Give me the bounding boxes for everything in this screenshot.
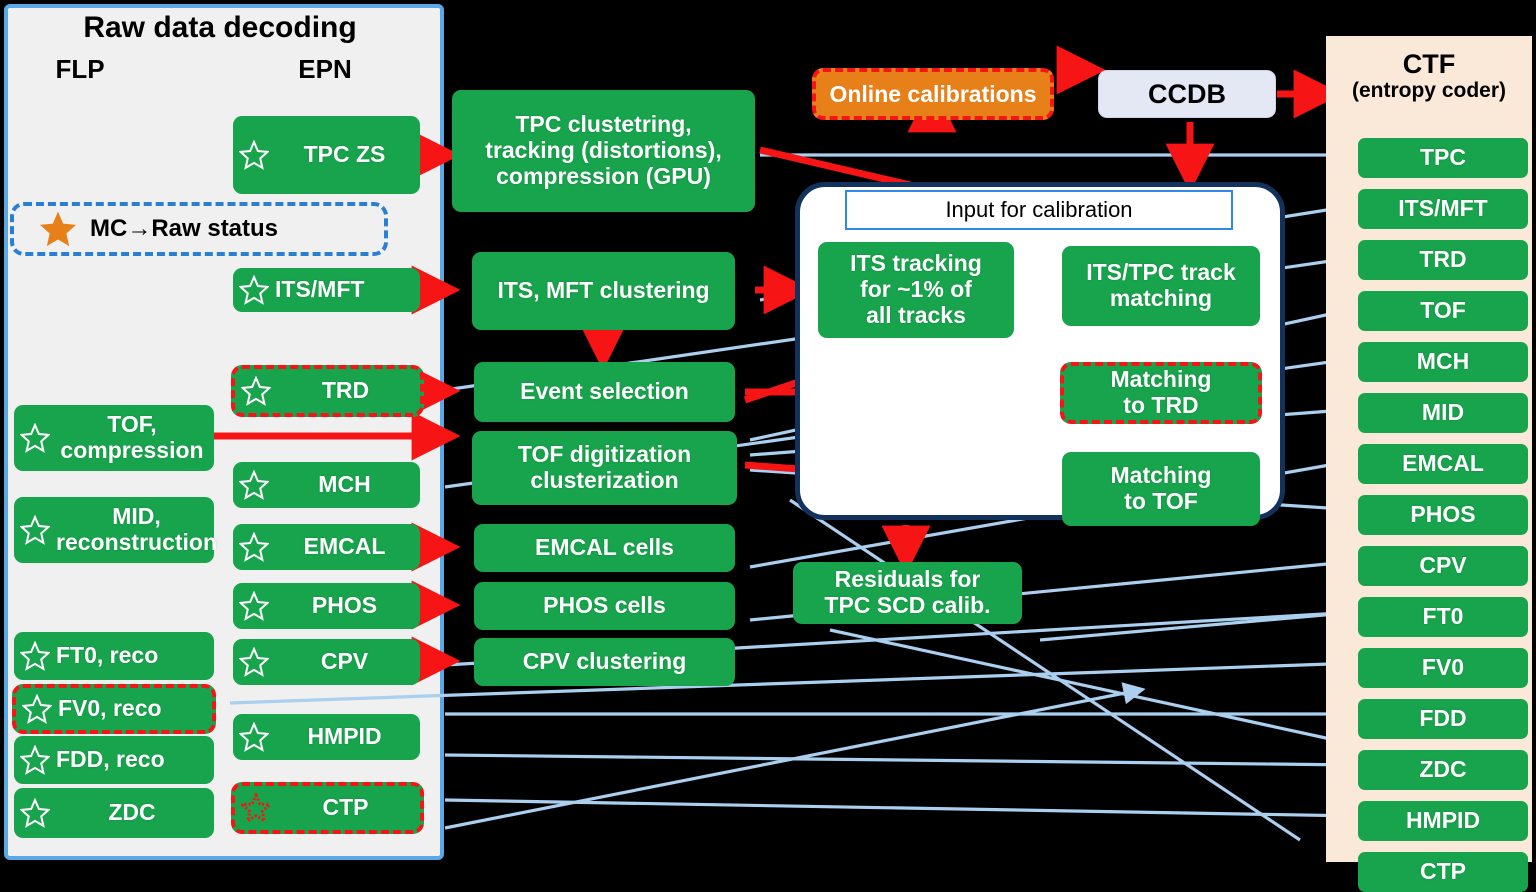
epn-node-label: TRD (277, 378, 414, 404)
ctf-node-trd[interactable]: TRD (1358, 240, 1528, 280)
outline-star-icon (20, 515, 50, 545)
ctf-node-emcal[interactable]: EMCAL (1358, 444, 1528, 484)
flp-node-zdc[interactable]: ZDC (14, 788, 214, 838)
flp-node-label: FDD, reco (56, 747, 165, 773)
epn-node-mch[interactable]: MCH (233, 462, 420, 508)
outline-star-icon (239, 532, 269, 562)
ccdb-box[interactable]: CCDB (1098, 70, 1276, 118)
ctf-node-hmpid[interactable]: HMPID (1358, 801, 1528, 841)
ctf-node-mch[interactable]: MCH (1358, 342, 1528, 382)
outline-star-icon (239, 647, 269, 677)
dotted-red-star-icon (241, 793, 271, 823)
reco-line-2: tracking (distortions), (485, 138, 721, 164)
reco-node-phos-cells[interactable]: PHOS cells (474, 582, 735, 630)
input-for-calibration-header: Input for calibration (845, 190, 1233, 230)
calib-node-matching-tof[interactable]: Matching to TOF (1062, 452, 1260, 526)
legend-mc-raw-status: MC→Raw status (10, 202, 388, 256)
epn-node-hmpid[interactable]: HMPID (233, 714, 420, 760)
epn-node-label: MCH (275, 472, 414, 498)
epn-node-label: EMCAL (275, 534, 414, 560)
outline-star-icon (239, 275, 269, 305)
residuals-node[interactable]: Residuals for TPC SCD calib. (793, 562, 1022, 624)
ctf-node-phos[interactable]: PHOS (1358, 495, 1528, 535)
flp-node-label: ZDC (56, 800, 208, 826)
calib-node-matching-trd[interactable]: Matching to TRD (1060, 362, 1262, 424)
outline-star-icon (239, 470, 269, 500)
epn-node-trd[interactable]: TRD (231, 365, 424, 417)
flp-node-label: TOF, compression (56, 412, 208, 464)
outline-star-icon (20, 798, 50, 828)
ctf-node-cpv[interactable]: CPV (1358, 546, 1528, 586)
filled-star-icon (36, 209, 80, 249)
epn-column-label: EPN (255, 56, 395, 83)
reco-node-tpc[interactable]: TPC clustetring, tracking (distortions),… (452, 90, 755, 212)
ctf-node-mid[interactable]: MID (1358, 393, 1528, 433)
flp-node-ft0[interactable]: FT0, reco (14, 632, 214, 680)
online-calibrations-box[interactable]: Online calibrations (812, 68, 1054, 120)
flp-node-fv0[interactable]: FV0, reco (12, 684, 216, 734)
ctf-node-tof[interactable]: TOF (1358, 291, 1528, 331)
ctf-node-fv0[interactable]: FV0 (1358, 648, 1528, 688)
epn-node-label: CPV (275, 649, 414, 675)
epn-node-phos[interactable]: PHOS (233, 583, 420, 629)
reco-node-its-mft-clustering[interactable]: ITS, MFT clustering (472, 252, 735, 330)
reco-node-event-selection[interactable]: Event selection (474, 362, 735, 422)
flp-node-label: MID, reconstruction (56, 504, 217, 556)
reco-node-cpv-clustering[interactable]: CPV clustering (474, 638, 735, 686)
epn-node-its-mft[interactable]: ITS/MFT (233, 268, 420, 312)
epn-node-tpc-zs[interactable]: TPC ZS (233, 116, 420, 194)
flp-node-mid[interactable]: MID, reconstruction (14, 497, 214, 563)
outline-star-icon (239, 591, 269, 621)
ctf-node-its-mft[interactable]: ITS/MFT (1358, 189, 1528, 229)
diagram-canvas: Raw data decoding FLP EPN MC→Raw status (0, 0, 1536, 864)
ctf-node-ctp[interactable]: CTP (1358, 852, 1528, 892)
epn-node-cpv[interactable]: CPV (233, 639, 420, 685)
reco-line-1: TPC clustetring, (515, 112, 691, 138)
reco-node-tof-digitization[interactable]: TOF digitization clusterization (472, 431, 737, 505)
ctf-node-tpc[interactable]: TPC (1358, 138, 1528, 178)
flp-node-label: FV0, reco (58, 696, 162, 722)
outline-star-icon (239, 722, 269, 752)
flp-node-label: FT0, reco (56, 643, 158, 669)
outline-star-icon (20, 423, 50, 453)
epn-node-label: HMPID (275, 724, 414, 750)
page-title: Raw data decoding (20, 12, 420, 44)
outline-star-icon (20, 641, 50, 671)
ctf-title: CTF (1326, 50, 1532, 78)
calib-node-its-tracking[interactable]: ITS tracking for ~1% of all tracks (818, 242, 1014, 338)
ctf-node-fdd[interactable]: FDD (1358, 699, 1528, 739)
outline-star-icon (241, 376, 271, 406)
calib-node-its-tpc-matching[interactable]: ITS/TPC track matching (1062, 246, 1260, 326)
ctf-node-zdc[interactable]: ZDC (1358, 750, 1528, 790)
flp-node-fdd[interactable]: FDD, reco (14, 736, 214, 784)
ctf-subtitle: (entropy coder) (1326, 80, 1532, 102)
reco-node-emcal-cells[interactable]: EMCAL cells (474, 524, 735, 572)
outline-star-icon (22, 694, 52, 724)
epn-node-label: CTP (277, 795, 414, 821)
epn-node-emcal[interactable]: EMCAL (233, 524, 420, 570)
epn-node-label: TPC ZS (275, 142, 414, 168)
epn-node-label: PHOS (275, 593, 414, 619)
flp-column-label: FLP (20, 56, 140, 83)
legend-label: MC→Raw status (90, 215, 278, 243)
epn-node-ctp[interactable]: CTP (231, 782, 424, 834)
flp-node-tof[interactable]: TOF, compression (14, 405, 214, 471)
ctf-node-ft0[interactable]: FT0 (1358, 597, 1528, 637)
reco-line-3: compression (GPU) (496, 164, 711, 190)
epn-node-label: ITS/MFT (275, 277, 364, 303)
outline-star-icon (20, 745, 50, 775)
outline-star-icon (239, 140, 269, 170)
